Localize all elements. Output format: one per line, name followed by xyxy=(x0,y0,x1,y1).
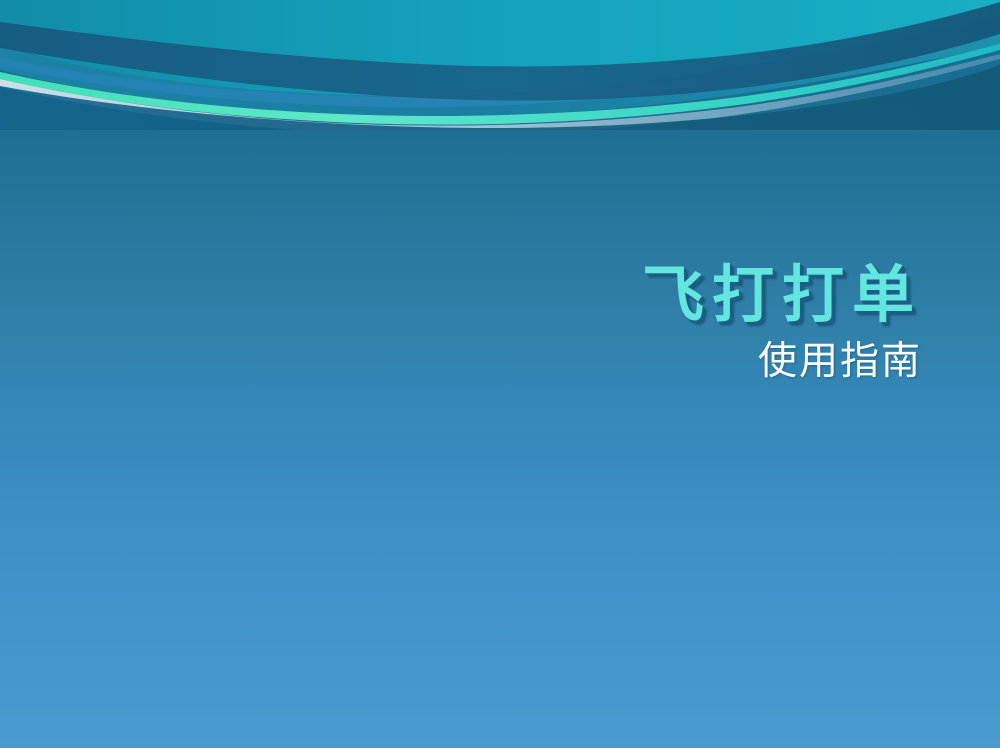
wave-highlight-green xyxy=(0,44,1000,125)
wave-highlight-white xyxy=(0,54,1000,130)
wave-ribbon-mid xyxy=(0,16,1000,117)
flow-wave-band-decoration xyxy=(0,0,1000,130)
wave-svg xyxy=(0,0,1000,130)
title-block: 飞打打单 使用指南 xyxy=(402,262,922,384)
wave-ribbon-bright xyxy=(0,0,1000,98)
presentation-slide: 飞打打单 使用指南 xyxy=(0,0,1000,748)
page-title: 飞打打单 xyxy=(402,262,922,327)
wave-ribbon-dark xyxy=(0,2,1000,101)
page-subtitle: 使用指南 xyxy=(402,341,922,384)
wave-ribbon-deep xyxy=(0,65,1000,130)
wave-arc-blue xyxy=(0,19,1000,107)
